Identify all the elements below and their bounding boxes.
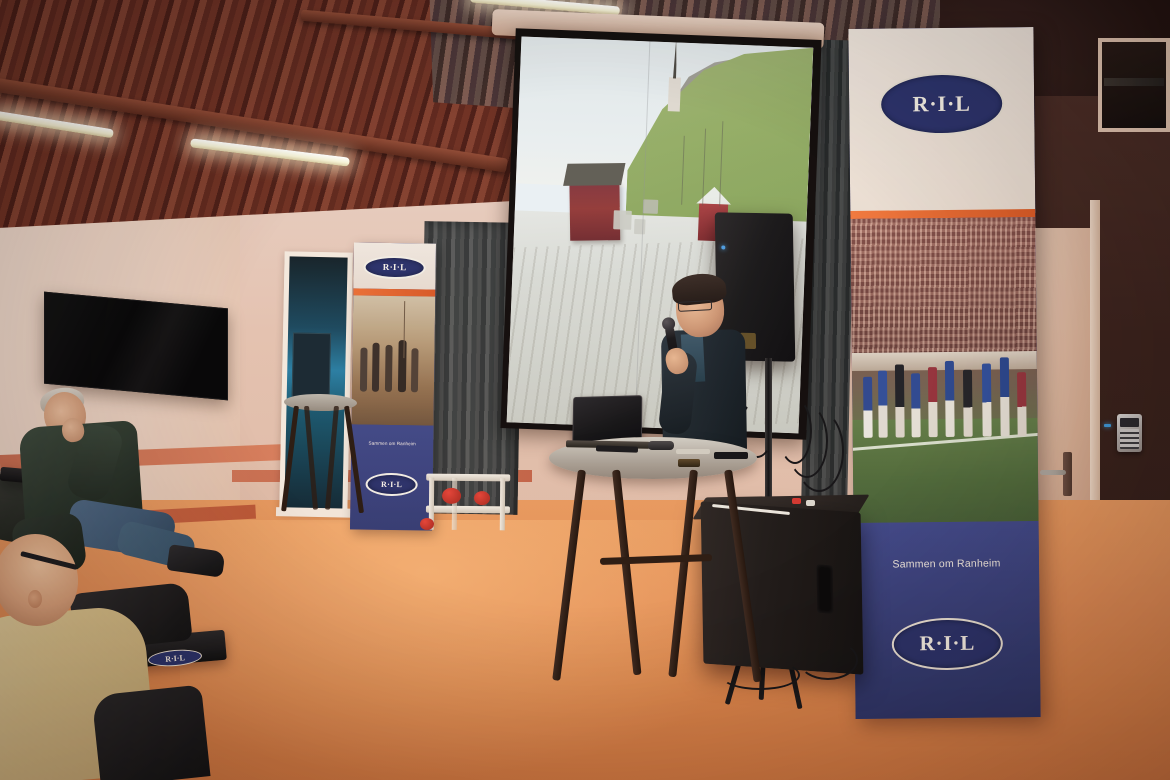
audience-ear [28,590,42,608]
window-glass [284,256,347,509]
banner-photo-player [894,365,904,438]
glasses-icon [678,300,712,312]
floor-red-object [420,518,434,530]
audience-member-dark-shoulder [91,685,210,780]
shelf-red-object [474,491,490,505]
right-rollup-banner: R·I·L Sammen om Ranheim R·I·L [848,27,1040,719]
banner-photo-player [911,374,921,438]
banner-photo-figure [360,347,367,391]
left-rollup-banner: R·I·L Sammen om Ranheim R·I·L [350,242,436,530]
projected-red-barn [570,182,620,241]
ril-logo-icon: R·I·L [365,472,418,496]
transom-window [1098,38,1170,132]
banner-photo-player [1017,372,1027,436]
shelf-board-bottom [426,506,510,514]
banner-photo-figure [398,340,407,392]
shelf-red-object [442,488,461,504]
banner-photo-figure [372,342,380,391]
banner-photo [351,296,435,426]
projected-outbuilding [634,219,646,235]
access-keypad[interactable] [1117,414,1142,452]
desk-paper [676,449,710,454]
subwoofer-handle [817,565,834,614]
status-led-icon [1104,424,1111,427]
speaker-cable [794,410,844,492]
speaker-terminal-red [792,498,801,504]
banner-photo-player [928,367,938,437]
floor-cable [798,640,858,680]
desk-small-box [678,459,700,467]
ril-logo-icon: R·I·L [363,255,426,279]
door-handle[interactable] [1040,470,1066,475]
keypad-keys[interactable] [1120,429,1139,449]
projected-outbuilding [613,210,631,230]
banner-photo-player [1000,357,1010,436]
desk-mouse[interactable] [648,441,674,450]
banner-photo-figure [385,345,393,392]
banner-photo-player [981,364,991,437]
scene-root: R·I·L Sammen om Ranheim R·I·L R·I·L [0,0,1170,780]
power-led-icon [721,245,725,249]
banner-photo-player [863,377,873,438]
window-sill [276,507,360,518]
banner-photo-crowd [850,217,1036,359]
wall-tv[interactable] [44,292,228,401]
shelf-leg [500,478,505,530]
banner-photo-player [878,371,888,438]
shelf-unit [426,474,511,533]
desk-phone[interactable] [714,452,748,459]
banner-photo-player [963,370,973,437]
projected-outbuilding [643,200,658,214]
banner-photo-player [944,361,954,437]
speaker-terminal-white [806,500,815,506]
shelf-leg [452,478,457,530]
transom-bar [1104,78,1164,86]
shelf-board-top [426,474,510,482]
keypad-screen [1120,418,1139,427]
projected-church [668,77,681,112]
banner-tagline: Sammen om Ranheim [854,557,1039,571]
banner-photo-figure [411,348,418,392]
banner-photo [850,217,1038,523]
